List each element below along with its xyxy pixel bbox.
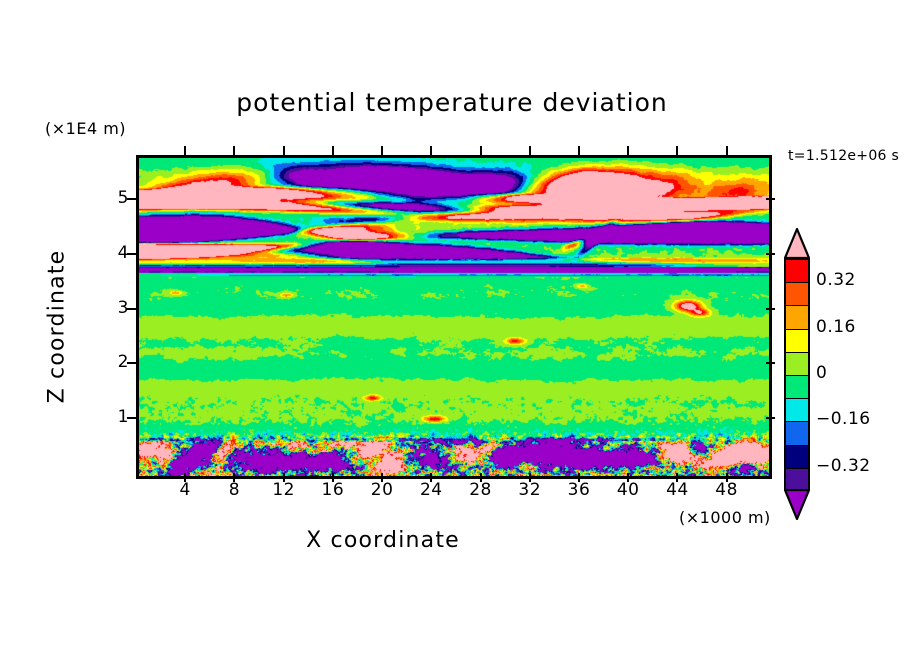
colorbar: 0.320.160−0.16−0.32 [784,228,814,520]
x-tick-mark [283,146,285,155]
x-axis-units-label: (×1000 m) [679,508,771,527]
y-axis-units-label: (×1E4 m) [45,119,126,138]
x-tick-mark [726,146,728,155]
x-tick-label: 28 [461,480,501,500]
colorbar-tick-label: 0 [816,363,827,383]
colorbar-band [786,353,808,376]
colorbar-over-arrow-icon [784,228,810,259]
x-tick-label: 8 [214,480,254,500]
colorbar-band [786,422,808,445]
y-tick-mark [766,362,775,364]
contour-field-canvas [139,158,769,476]
x-tick-mark [627,146,629,155]
colorbar-band [786,446,808,469]
x-tick-label: 12 [264,480,304,500]
colorbar-bands [784,258,810,490]
colorbar-band [786,283,808,306]
y-tick-label: 3 [99,298,129,318]
colorbar-band [786,376,808,399]
x-tick-mark [381,146,383,155]
x-tick-label: 32 [510,480,550,500]
figure-root: potential temperature deviation (×1E4 m)… [0,0,904,654]
colorbar-band [786,260,808,283]
x-tick-label: 24 [411,480,451,500]
y-tick-mark [766,417,775,419]
y-tick-label: 2 [99,352,129,372]
x-tick-mark [430,146,432,155]
colorbar-tick-label: 0.16 [816,317,856,337]
x-tick-label: 36 [559,480,599,500]
colorbar-tick-label: 0.32 [816,270,856,290]
x-tick-label: 48 [707,480,747,500]
x-tick-label: 4 [165,480,205,500]
x-axis-title: X coordinate [0,528,766,553]
contour-plot-area [136,155,772,479]
x-tick-label: 16 [313,480,353,500]
y-axis-title: Z coordinate [45,207,70,447]
x-tick-mark [184,146,186,155]
y-tick-mark [766,253,775,255]
x-tick-mark [480,146,482,155]
y-tick-mark [766,308,775,310]
x-tick-label: 20 [362,480,402,500]
x-tick-mark [676,146,678,155]
y-tick-label: 4 [99,243,129,263]
x-tick-mark [332,146,334,155]
colorbar-band [786,306,808,329]
x-tick-label: 40 [608,480,648,500]
y-tick-mark [766,198,775,200]
time-annotation: t=1.512e+06 s [788,148,899,164]
colorbar-tick-label: −0.16 [816,409,871,429]
colorbar-band [786,399,808,422]
page-title: potential temperature deviation [0,88,904,117]
colorbar-tick-label: −0.32 [816,456,871,476]
colorbar-under-arrow-icon [784,489,810,520]
x-tick-mark [529,146,531,155]
y-tick-label: 1 [99,407,129,427]
x-tick-label: 44 [657,480,697,500]
x-tick-mark [578,146,580,155]
colorbar-band [786,330,808,353]
y-tick-label: 5 [99,188,129,208]
x-tick-mark [233,146,235,155]
